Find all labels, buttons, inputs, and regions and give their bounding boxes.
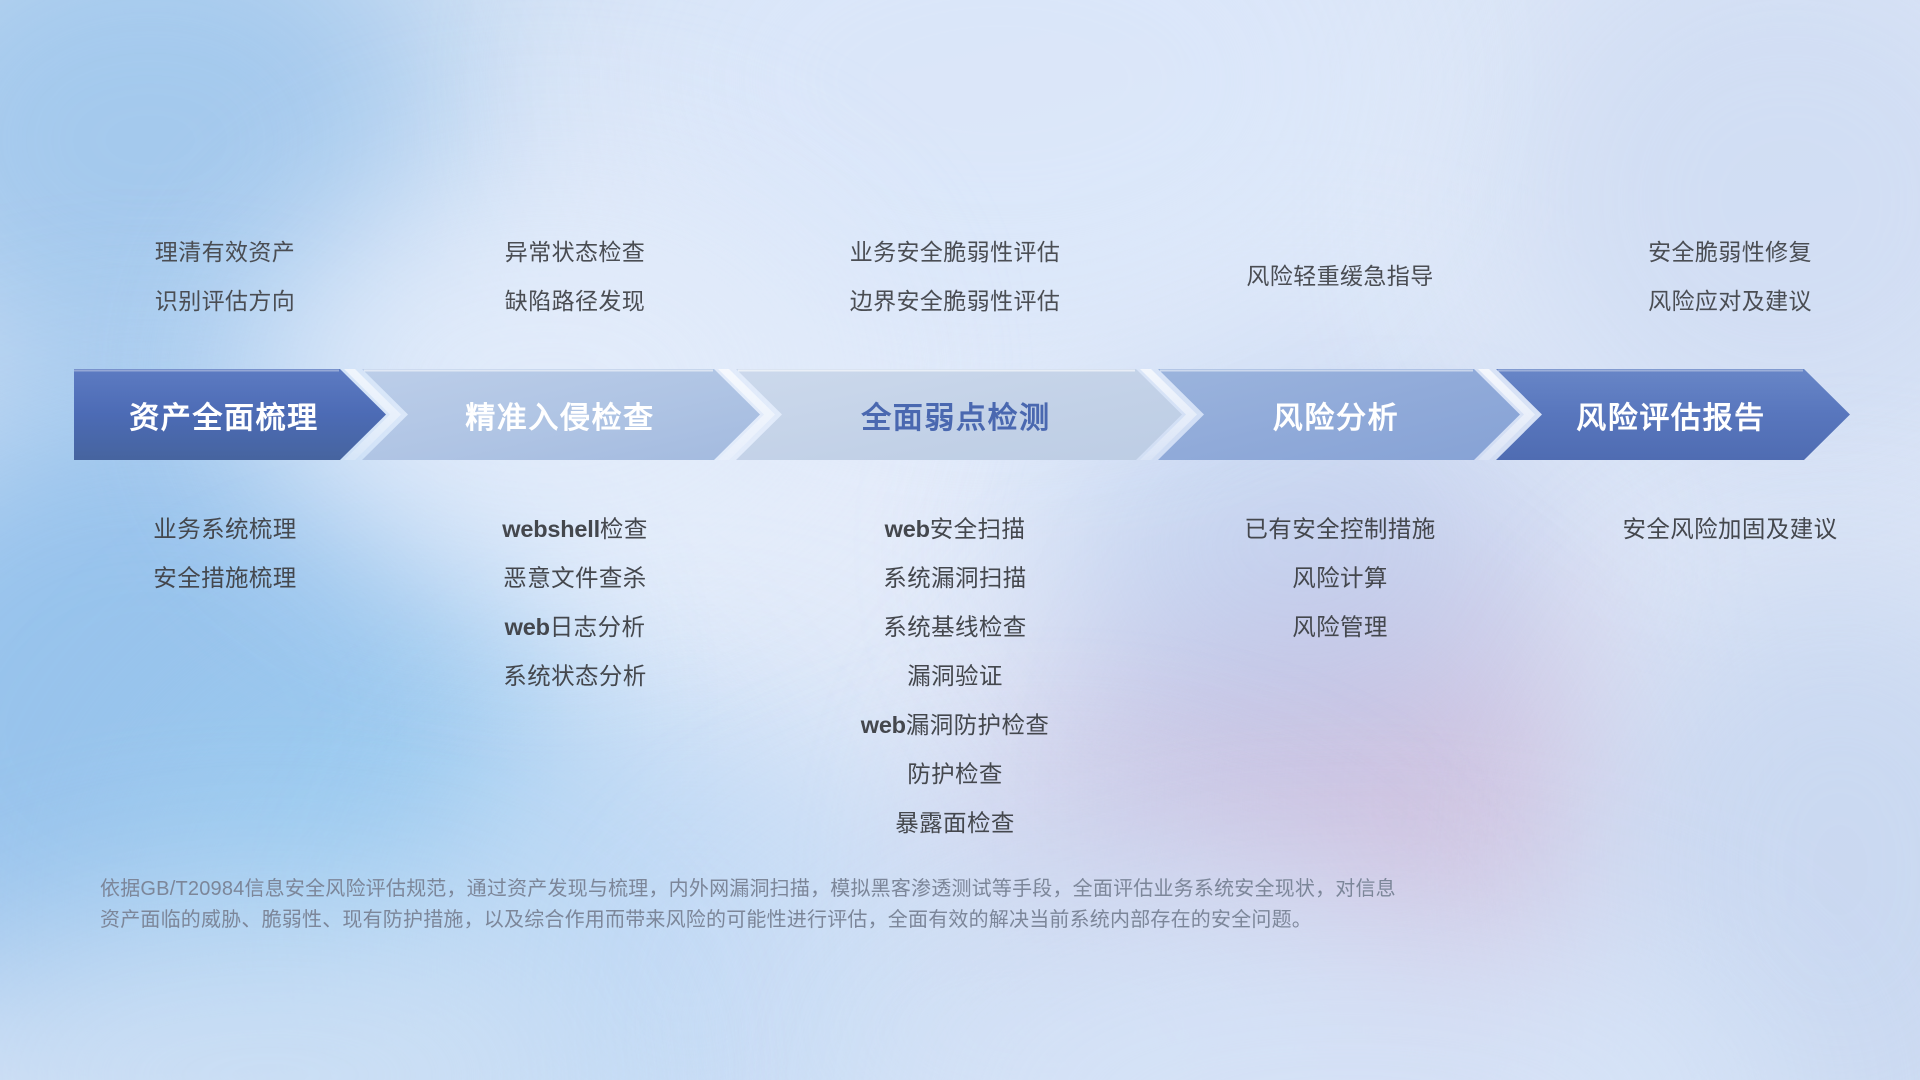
stage-label-line: 系统漏洞扫描 xyxy=(765,554,1145,603)
stage-label-line: 风险计算 xyxy=(1160,554,1520,603)
stage-above-labels-risk-analysis: 风险轻重缓急指导 xyxy=(1160,228,1520,301)
stage-label-line: webshell检查 xyxy=(400,505,750,554)
stage-label-line: 业务安全脆弱性评估 xyxy=(765,228,1145,277)
stage-label-line: 识别评估方向 xyxy=(55,277,395,326)
stage-below-list-risk-assessment-report: 安全风险加固及建议 xyxy=(1535,505,1920,554)
stage-above-labels-risk-assessment-report: 安全脆弱性修复风险应对及建议 xyxy=(1535,228,1920,326)
stage-label-line: 理清有效资产 xyxy=(55,228,395,277)
stage-label-line: 风险轻重缓急指导 xyxy=(1160,252,1520,301)
stage-inputs-row: 理清有效资产识别评估方向 异常状态检查缺陷路径发现 业务安全脆弱性评估边界安全脆… xyxy=(0,228,1920,326)
stage-above-labels-precise-intrusion-check: 异常状态检查缺陷路径发现 xyxy=(400,228,750,326)
stage-label-line: 边界安全脆弱性评估 xyxy=(765,277,1145,326)
stage-label-line: 系统基线检查 xyxy=(765,603,1145,652)
stage-label-line: 安全脆弱性修复 xyxy=(1535,228,1920,277)
stage-label-line: web漏洞防护检查 xyxy=(765,701,1145,750)
footer-description: 依据GB/T20984信息安全风险评估规范，通过资产发现与梳理，内外网漏洞扫描，… xyxy=(100,874,1600,936)
stage-label-line: 异常状态检查 xyxy=(400,228,750,277)
stage-below-list-full-weakness-detection: web安全扫描系统漏洞扫描系统基线检查漏洞验证web漏洞防护检查防护检查暴露面检… xyxy=(765,505,1145,848)
chevron-shapes xyxy=(74,369,1850,460)
stage-label-line: 风险管理 xyxy=(1160,603,1520,652)
footer-description-line-1: 依据GB/T20984信息安全风险评估规范，通过资产发现与梳理，内外网漏洞扫描，… xyxy=(100,874,1600,905)
stage-label-line: 缺陷路径发现 xyxy=(400,277,750,326)
stage-label-line: web安全扫描 xyxy=(765,505,1145,554)
stage-label-line: 已有安全控制措施 xyxy=(1160,505,1520,554)
stage-below-list-risk-analysis: 已有安全控制措施风险计算风险管理 xyxy=(1160,505,1520,652)
stage-label-line: 暴露面检查 xyxy=(765,799,1145,848)
stage-label-line: web日志分析 xyxy=(400,603,750,652)
stage-activities-row: 业务系统梳理安全措施梳理 webshell检查恶意文件查杀web日志分析系统状态… xyxy=(0,505,1920,848)
stage-label-line: 安全风险加固及建议 xyxy=(1535,505,1920,554)
stage-label-line: 业务系统梳理 xyxy=(55,505,395,554)
stage-label-line: 漏洞验证 xyxy=(765,652,1145,701)
stage-label-line: 安全措施梳理 xyxy=(55,554,395,603)
stage-label-line: 防护检查 xyxy=(765,750,1145,799)
stage-label-line: 恶意文件查杀 xyxy=(400,554,750,603)
stage-above-labels-asset-inventory: 理清有效资产识别评估方向 xyxy=(55,228,395,326)
process-flow-chevron-band: 资产全面梳理 精准入侵检查 全面弱点检测 风险分析 风险评估报告 xyxy=(74,369,1850,460)
stage-above-labels-full-weakness-detection: 业务安全脆弱性评估边界安全脆弱性评估 xyxy=(765,228,1145,326)
footer-description-line-2: 资产面临的威胁、脆弱性、现有防护措施，以及综合作用而带来风险的可能性进行评估，全… xyxy=(100,905,1600,936)
stage-label-line: 风险应对及建议 xyxy=(1535,277,1920,326)
stage-below-list-asset-inventory: 业务系统梳理安全措施梳理 xyxy=(55,505,395,603)
stage-label-line: 系统状态分析 xyxy=(400,652,750,701)
stage-below-list-precise-intrusion-check: webshell检查恶意文件查杀web日志分析系统状态分析 xyxy=(400,505,750,701)
